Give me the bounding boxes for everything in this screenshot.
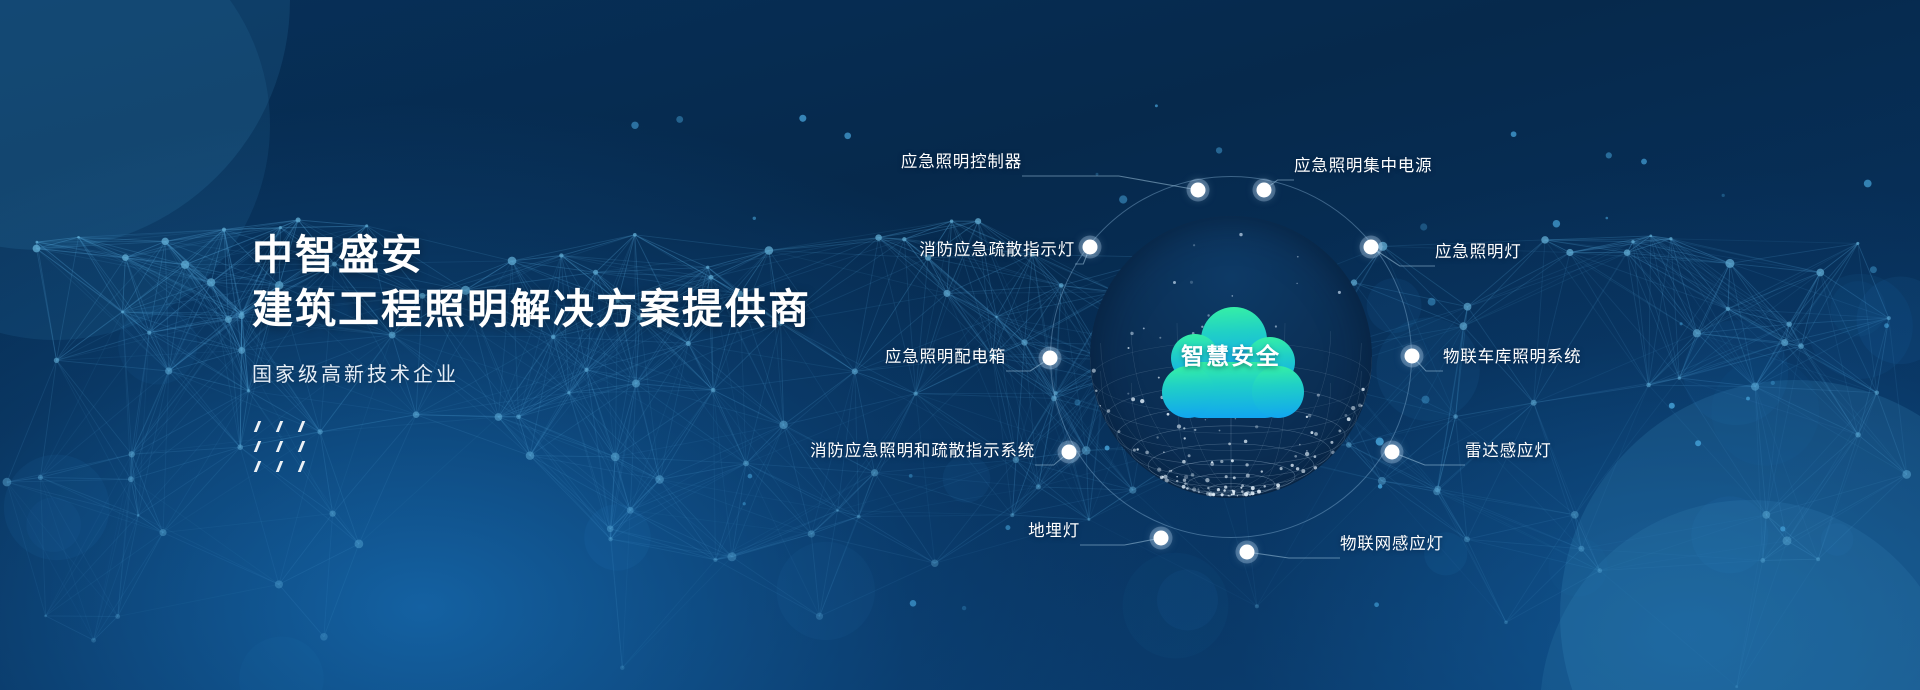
diagram-node-emergency-lighting-controller[interactable] bbox=[1191, 183, 1206, 198]
diagram-label-emergency-lighting-distribution-box[interactable]: 应急照明配电箱 bbox=[885, 343, 1006, 374]
diagram-node-emergency-lighting-lamp[interactable] bbox=[1364, 240, 1379, 255]
slash-mark bbox=[298, 421, 305, 432]
diagram-label-fire-emergency-lighting-evacuation-system[interactable]: 消防应急照明和疏散指示系统 bbox=[810, 437, 1035, 468]
diagram-label-iot-sensor-light[interactable]: 物联网感应灯 bbox=[1340, 530, 1444, 561]
diagram-label-emergency-lighting-central-power[interactable]: 应急照明集中电源 bbox=[1294, 152, 1432, 183]
slash-mark bbox=[298, 461, 305, 472]
brand-copy-block: 中智盛安 建筑工程照明解决方案提供商 国家级高新技术企业 bbox=[252, 228, 811, 481]
diagram-label-emergency-lighting-controller[interactable]: 应急照明控制器 bbox=[901, 148, 1022, 179]
diagram-node-fire-emergency-evacuation-indicator[interactable] bbox=[1083, 240, 1098, 255]
slash-mark bbox=[254, 461, 261, 472]
brand-subtitle: 国家级高新技术企业 bbox=[252, 358, 811, 387]
slash-mark bbox=[254, 441, 261, 452]
diagram-label-radar-sensor-light[interactable]: 雷达感应灯 bbox=[1465, 437, 1552, 468]
diagram-label-buried-ground-light[interactable]: 地埋灯 bbox=[1028, 517, 1080, 548]
slash-mark bbox=[276, 441, 283, 452]
slash-mark bbox=[298, 441, 305, 452]
headline-line-2: 建筑工程照明解决方案提供商 bbox=[252, 282, 811, 336]
diagram-label-emergency-lighting-lamp[interactable]: 应急照明灯 bbox=[1435, 238, 1522, 269]
diagram-label-fire-emergency-evacuation-indicator[interactable]: 消防应急疏散指示灯 bbox=[919, 236, 1075, 267]
headline-line-1: 中智盛安 bbox=[252, 228, 811, 282]
slash-grid-decoration bbox=[256, 421, 811, 481]
diagram-node-iot-garage-lighting-system[interactable] bbox=[1405, 349, 1420, 364]
diagram-node-radar-sensor-light[interactable] bbox=[1385, 445, 1400, 460]
diagram-node-buried-ground-light[interactable] bbox=[1154, 531, 1169, 546]
slash-mark bbox=[276, 461, 283, 472]
diagram-label-iot-garage-lighting-system[interactable]: 物联车库照明系统 bbox=[1443, 343, 1581, 374]
diagram-node-emergency-lighting-distribution-box[interactable] bbox=[1043, 351, 1058, 366]
slash-mark bbox=[254, 421, 261, 432]
diagram-node-iot-sensor-light[interactable] bbox=[1240, 545, 1255, 560]
hero-banner: 中智盛安 建筑工程照明解决方案提供商 国家级高新技术企业 bbox=[0, 0, 1920, 690]
slash-mark bbox=[276, 421, 283, 432]
diagram-node-fire-emergency-lighting-evacuation-system[interactable] bbox=[1062, 445, 1077, 460]
cloud-label: 智慧安全 bbox=[1148, 337, 1314, 371]
diagram-node-emergency-lighting-central-power[interactable] bbox=[1257, 183, 1272, 198]
